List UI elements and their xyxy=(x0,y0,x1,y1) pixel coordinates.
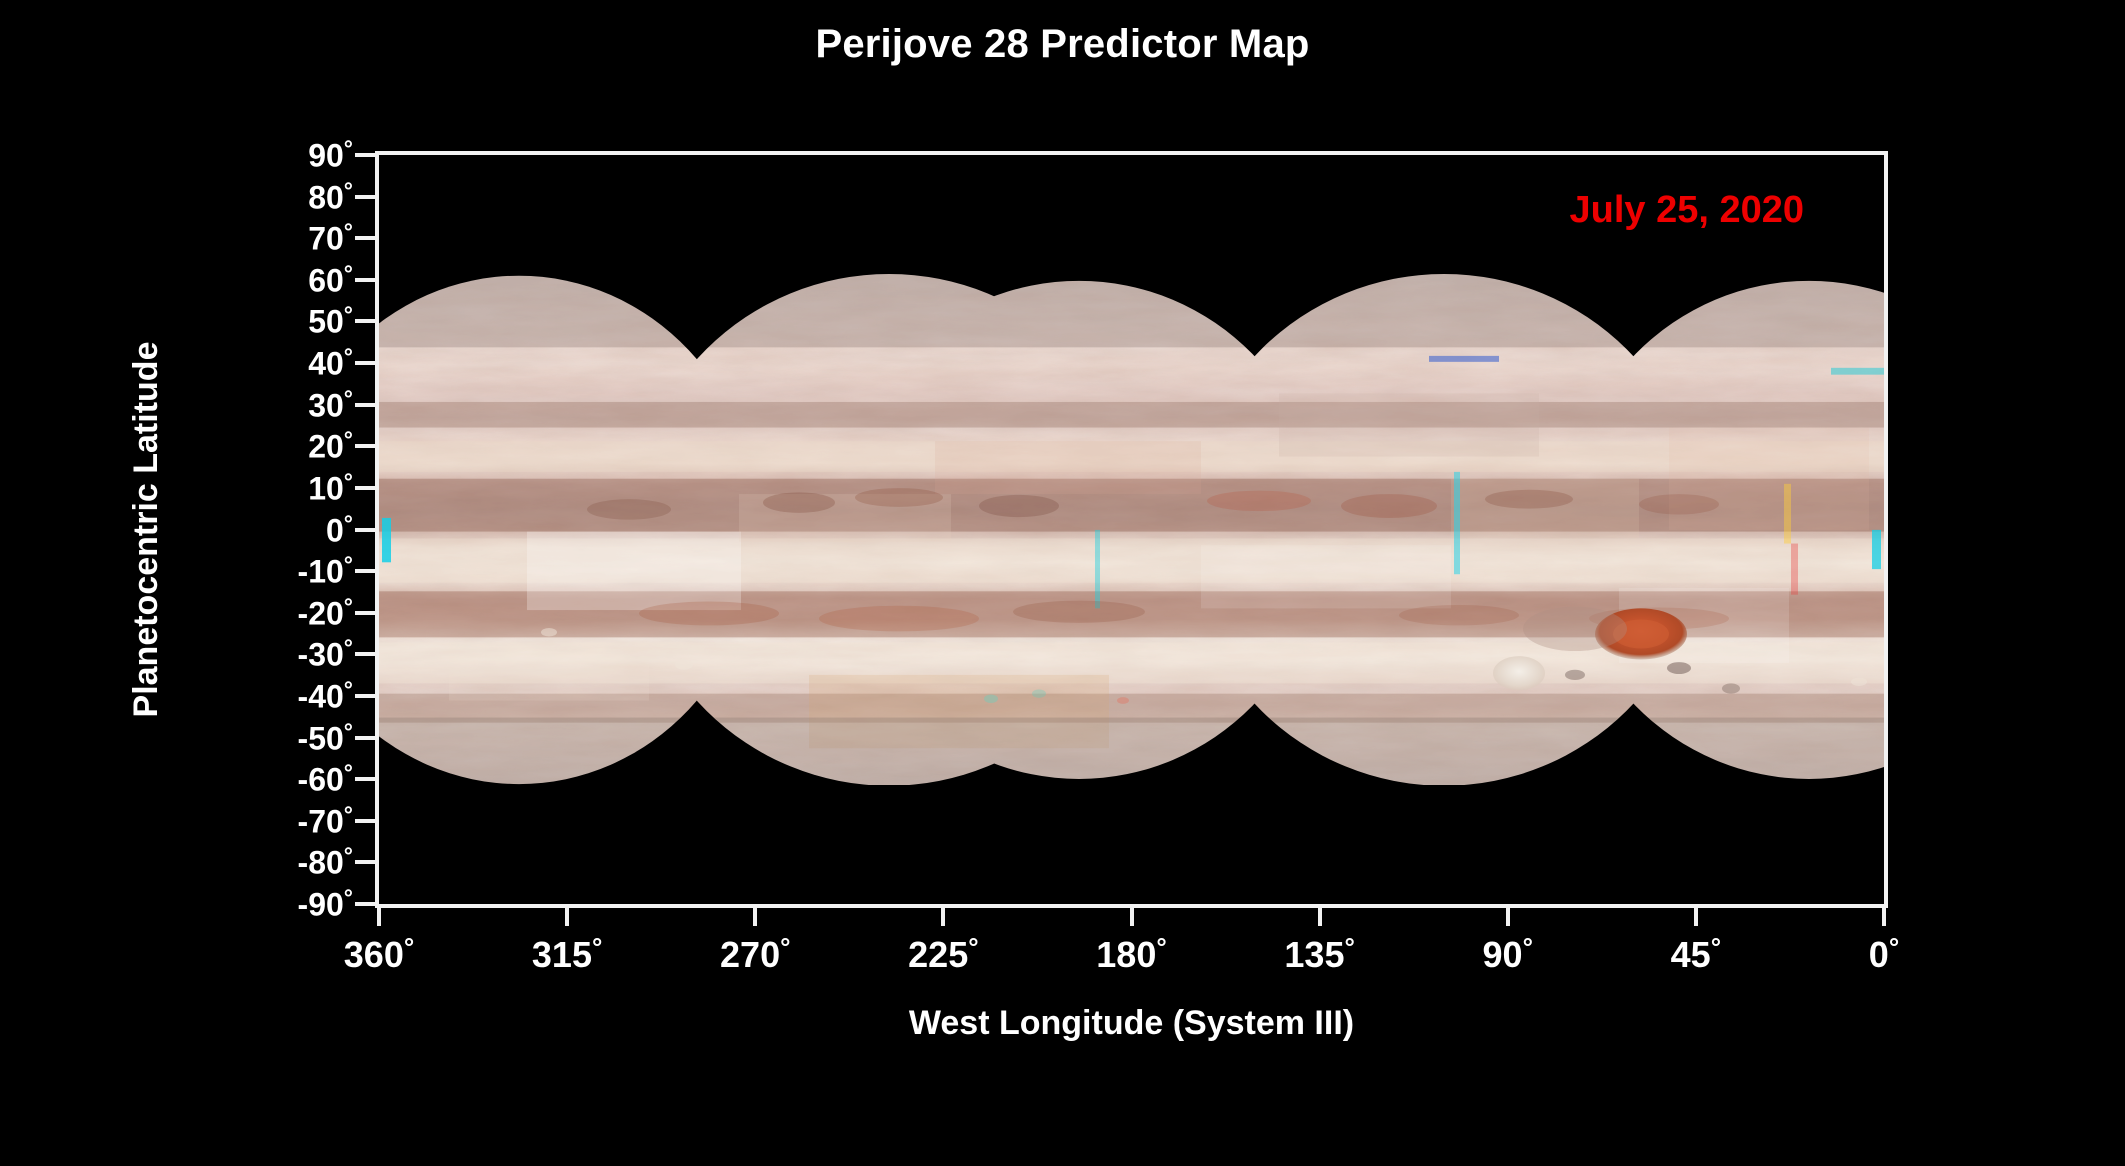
x-axis-title: West Longitude (System III) xyxy=(375,1004,1888,1043)
date-annotation: July 25, 2020 xyxy=(1569,189,1804,232)
figure-root: Perijove 28 Predictor Map July 25, 2020 xyxy=(0,0,2125,1166)
x-tick-270 xyxy=(753,904,757,926)
y-axis-title: Planetocentric Latitude xyxy=(122,151,170,908)
y-tick-label-10: 10° xyxy=(308,469,353,508)
x-tick-180 xyxy=(1130,904,1134,926)
x-tick-label-270: 270° xyxy=(720,934,790,976)
y-tick-label-90: 90° xyxy=(308,136,353,175)
y-tick-label-neg60: -60° xyxy=(298,760,353,799)
y-tick-neg80 xyxy=(355,860,379,864)
x-tick-label-90: 90° xyxy=(1483,934,1533,976)
y-tick-10 xyxy=(355,486,379,490)
jupiter-cylindrical-map xyxy=(379,274,1884,786)
y-tick-neg40 xyxy=(355,694,379,698)
y-tick-label-neg50: -50° xyxy=(298,718,353,757)
y-tick-label-60: 60° xyxy=(308,260,353,299)
y-tick-label-80: 80° xyxy=(308,177,353,216)
y-tick-label-40: 40° xyxy=(308,344,353,383)
x-tick-label-360: 360° xyxy=(344,934,414,976)
x-tick-label-0: 0° xyxy=(1869,934,1899,976)
y-tick-label-20: 20° xyxy=(308,427,353,466)
y-tick-label-70: 70° xyxy=(308,219,353,258)
page-title: Perijove 28 Predictor Map xyxy=(0,22,2125,67)
y-tick-neg30 xyxy=(355,652,379,656)
x-tick-360 xyxy=(377,904,381,926)
x-tick-label-315: 315° xyxy=(532,934,602,976)
y-tick-neg60 xyxy=(355,777,379,781)
x-tick-label-180: 180° xyxy=(1096,934,1166,976)
x-tick-90 xyxy=(1506,904,1510,926)
x-tick-label-135: 135° xyxy=(1284,934,1354,976)
map-mosaic xyxy=(379,274,1884,786)
y-tick-90 xyxy=(355,153,379,157)
y-tick-label-50: 50° xyxy=(308,302,353,341)
jupiter-map-svg xyxy=(379,274,1884,786)
y-tick-label-neg30: -30° xyxy=(298,635,353,674)
y-tick-neg10 xyxy=(355,569,379,573)
y-tick-neg50 xyxy=(355,736,379,740)
y-tick-60 xyxy=(355,278,379,282)
plot-inner xyxy=(379,155,1884,904)
chart-title-text: Perijove 28 Predictor Map xyxy=(815,22,1309,66)
y-tick-label-neg80: -80° xyxy=(298,843,353,882)
x-tick-315 xyxy=(565,904,569,926)
y-tick-label-neg10: -10° xyxy=(298,552,353,591)
y-tick-label-30: 30° xyxy=(308,385,353,424)
y-tick-label-neg40: -40° xyxy=(298,677,353,716)
y-tick-30 xyxy=(355,403,379,407)
y-tick-80 xyxy=(355,195,379,199)
y-tick-40 xyxy=(355,361,379,365)
y-tick-label-neg20: -20° xyxy=(298,593,353,632)
y-tick-0 xyxy=(355,528,379,532)
y-tick-label-neg90: -90° xyxy=(298,885,353,924)
y-tick-70 xyxy=(355,236,379,240)
x-tick-225 xyxy=(941,904,945,926)
plot-area: July 25, 2020 xyxy=(375,151,1888,908)
y-tick-50 xyxy=(355,319,379,323)
x-tick-45 xyxy=(1694,904,1698,926)
x-tick-0 xyxy=(1882,904,1886,926)
x-tick-135 xyxy=(1318,904,1322,926)
y-tick-20 xyxy=(355,444,379,448)
y-tick-neg90 xyxy=(355,902,379,906)
x-tick-label-225: 225° xyxy=(908,934,978,976)
y-tick-neg70 xyxy=(355,819,379,823)
feature-white-oval-ba xyxy=(1493,656,1545,690)
y-tick-label-0: 0° xyxy=(326,510,353,549)
y-tick-label-neg70: -70° xyxy=(298,801,353,840)
x-tick-label-45: 45° xyxy=(1671,934,1721,976)
y-tick-neg20 xyxy=(355,611,379,615)
